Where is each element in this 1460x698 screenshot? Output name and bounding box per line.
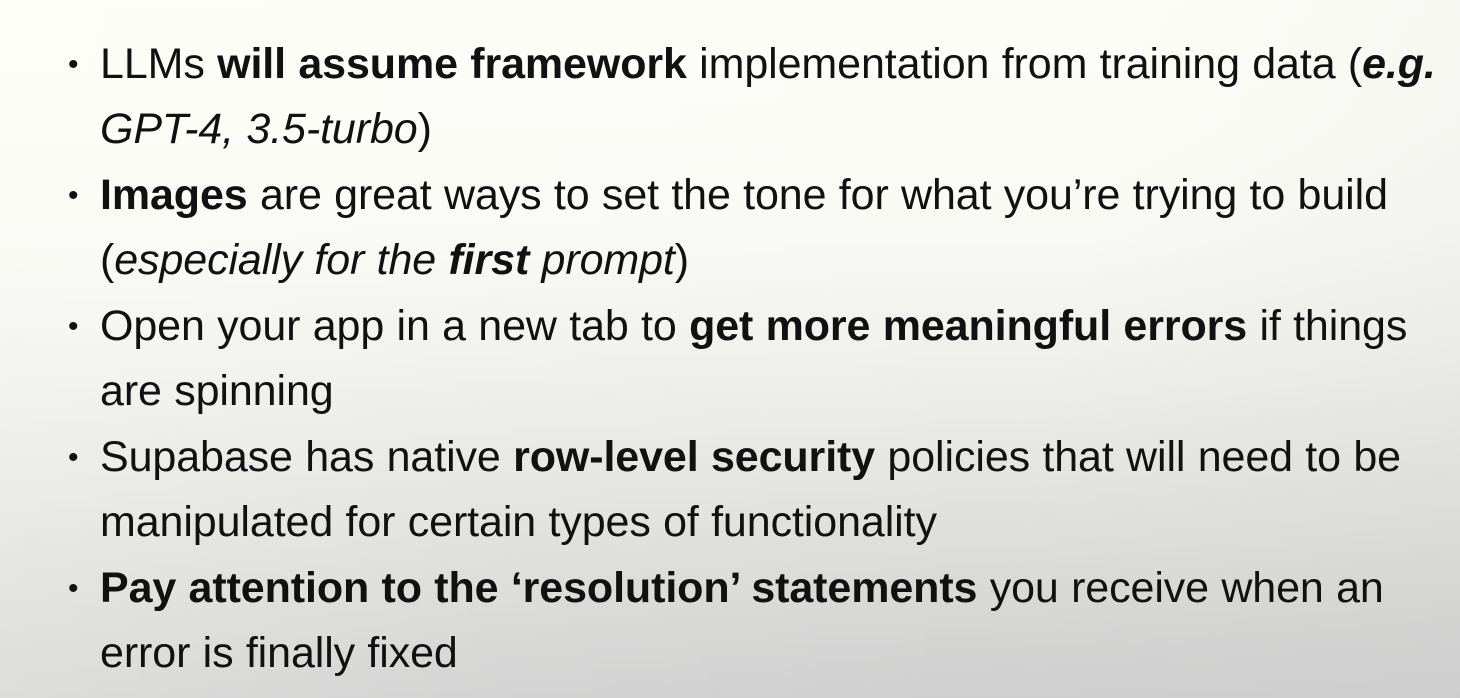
- bullet-text: Images are great ways to set the tone fo…: [100, 163, 1442, 293]
- text-run: prompt: [529, 236, 675, 284]
- text-run: GPT-4, 3.5-turbo: [100, 105, 418, 153]
- text-run: first: [448, 236, 529, 284]
- text-run: Supabase has native: [100, 433, 513, 481]
- text-run: Images: [100, 171, 248, 219]
- bullet-marker-icon: •: [68, 294, 88, 359]
- bullet-list: •LLMs will assume framework implementati…: [62, 32, 1442, 687]
- text-run: ): [675, 236, 689, 284]
- bullet-item: •Open your app in a new tab to get more …: [62, 294, 1442, 424]
- text-run: ): [418, 105, 432, 153]
- slide-canvas: •LLMs will assume framework implementati…: [0, 0, 1460, 698]
- bullet-marker-icon: •: [68, 163, 88, 228]
- bullet-text: Pay attention to the ‘resolution’ statem…: [100, 556, 1442, 686]
- bullet-item: •Supabase has native row-level security …: [62, 425, 1442, 555]
- text-run: implementation from training data (: [687, 40, 1362, 88]
- bullet-text: Supabase has native row-level security p…: [100, 425, 1442, 555]
- text-run: Pay attention to the ‘resolution’ statem…: [100, 564, 977, 612]
- bullet-marker-icon: •: [68, 425, 88, 490]
- text-run: especially for the: [114, 236, 448, 284]
- bullet-marker-icon: •: [68, 556, 88, 621]
- bullet-text: Open your app in a new tab to get more m…: [100, 294, 1442, 424]
- text-run: LLMs: [100, 40, 217, 88]
- bullet-marker-icon: •: [68, 32, 88, 97]
- text-run: will assume framework: [217, 40, 687, 88]
- text-run: e.g.: [1362, 40, 1436, 88]
- bullet-item: •Images are great ways to set the tone f…: [62, 163, 1442, 293]
- text-run: Open your app in a new tab to: [100, 302, 689, 350]
- bullet-item: •LLMs will assume framework implementati…: [62, 32, 1442, 162]
- bullet-text: LLMs will assume framework implementatio…: [100, 32, 1442, 162]
- text-run: row-level security: [513, 433, 875, 481]
- bullet-item: •Pay attention to the ‘resolution’ state…: [62, 556, 1442, 686]
- text-run: get more meaningful errors: [689, 302, 1247, 350]
